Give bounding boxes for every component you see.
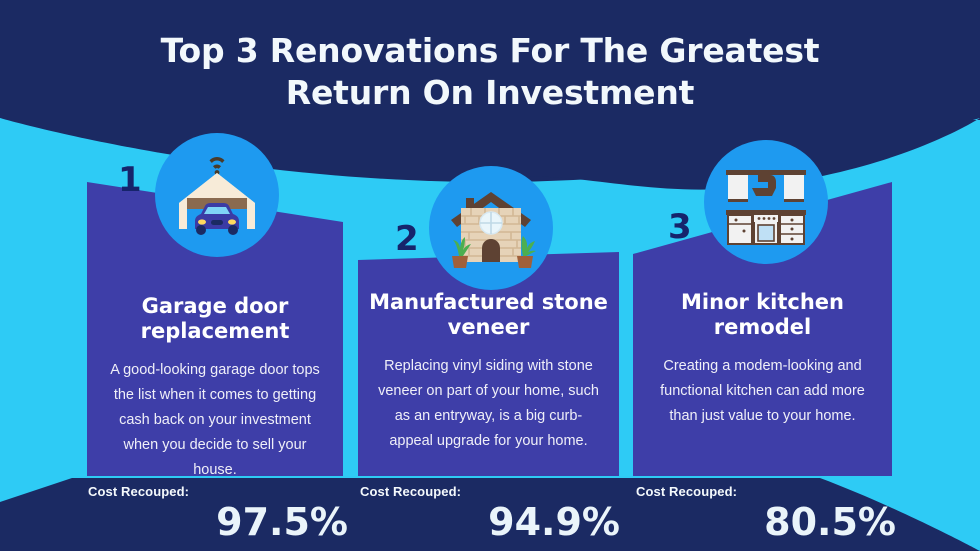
- stat-3: Cost Recouped: 80.5%: [636, 484, 896, 544]
- card-3-body: Creating a modem-looking and functional …: [633, 354, 892, 429]
- stone-house-icon: [429, 166, 553, 290]
- infographic-poster: Top 3 Renovations For The Greatest Retur…: [0, 0, 980, 551]
- rank-number-2: 2: [395, 222, 419, 256]
- card-1-title: Garage door replacement: [87, 294, 343, 344]
- card-1-body: A good-looking garage door tops the list…: [87, 358, 343, 483]
- stat-3-label: Cost Recouped:: [636, 484, 896, 499]
- rank-number-1: 1: [118, 163, 142, 197]
- kitchen-cabinets-icon: [704, 140, 828, 264]
- title-line-2: Return On Investment: [0, 72, 980, 114]
- card-3-title: Minor kitchen remodel: [633, 290, 892, 340]
- stat-1-label: Cost Recouped:: [88, 484, 348, 499]
- stat-1-value: 97.5%: [88, 500, 348, 544]
- title-line-1: Top 3 Renovations For The Greatest: [161, 31, 820, 70]
- stat-1: Cost Recouped: 97.5%: [88, 484, 348, 544]
- page-title: Top 3 Renovations For The Greatest Retur…: [0, 30, 980, 114]
- stone-house-glyph: [439, 176, 543, 280]
- stat-2: Cost Recouped: 94.9%: [360, 484, 620, 544]
- garage-door-icon: [155, 133, 279, 257]
- kitchen-glyph: [714, 150, 818, 254]
- stat-2-label: Cost Recouped:: [360, 484, 620, 499]
- rank-number-3: 3: [668, 210, 692, 244]
- card-2-title: Manufactured stone veneer: [358, 290, 619, 340]
- stat-2-value: 94.9%: [360, 500, 620, 544]
- card-2-body: Replacing vinyl siding with stone veneer…: [358, 354, 619, 454]
- stat-3-value: 80.5%: [636, 500, 896, 544]
- garage-door-glyph: [165, 143, 269, 247]
